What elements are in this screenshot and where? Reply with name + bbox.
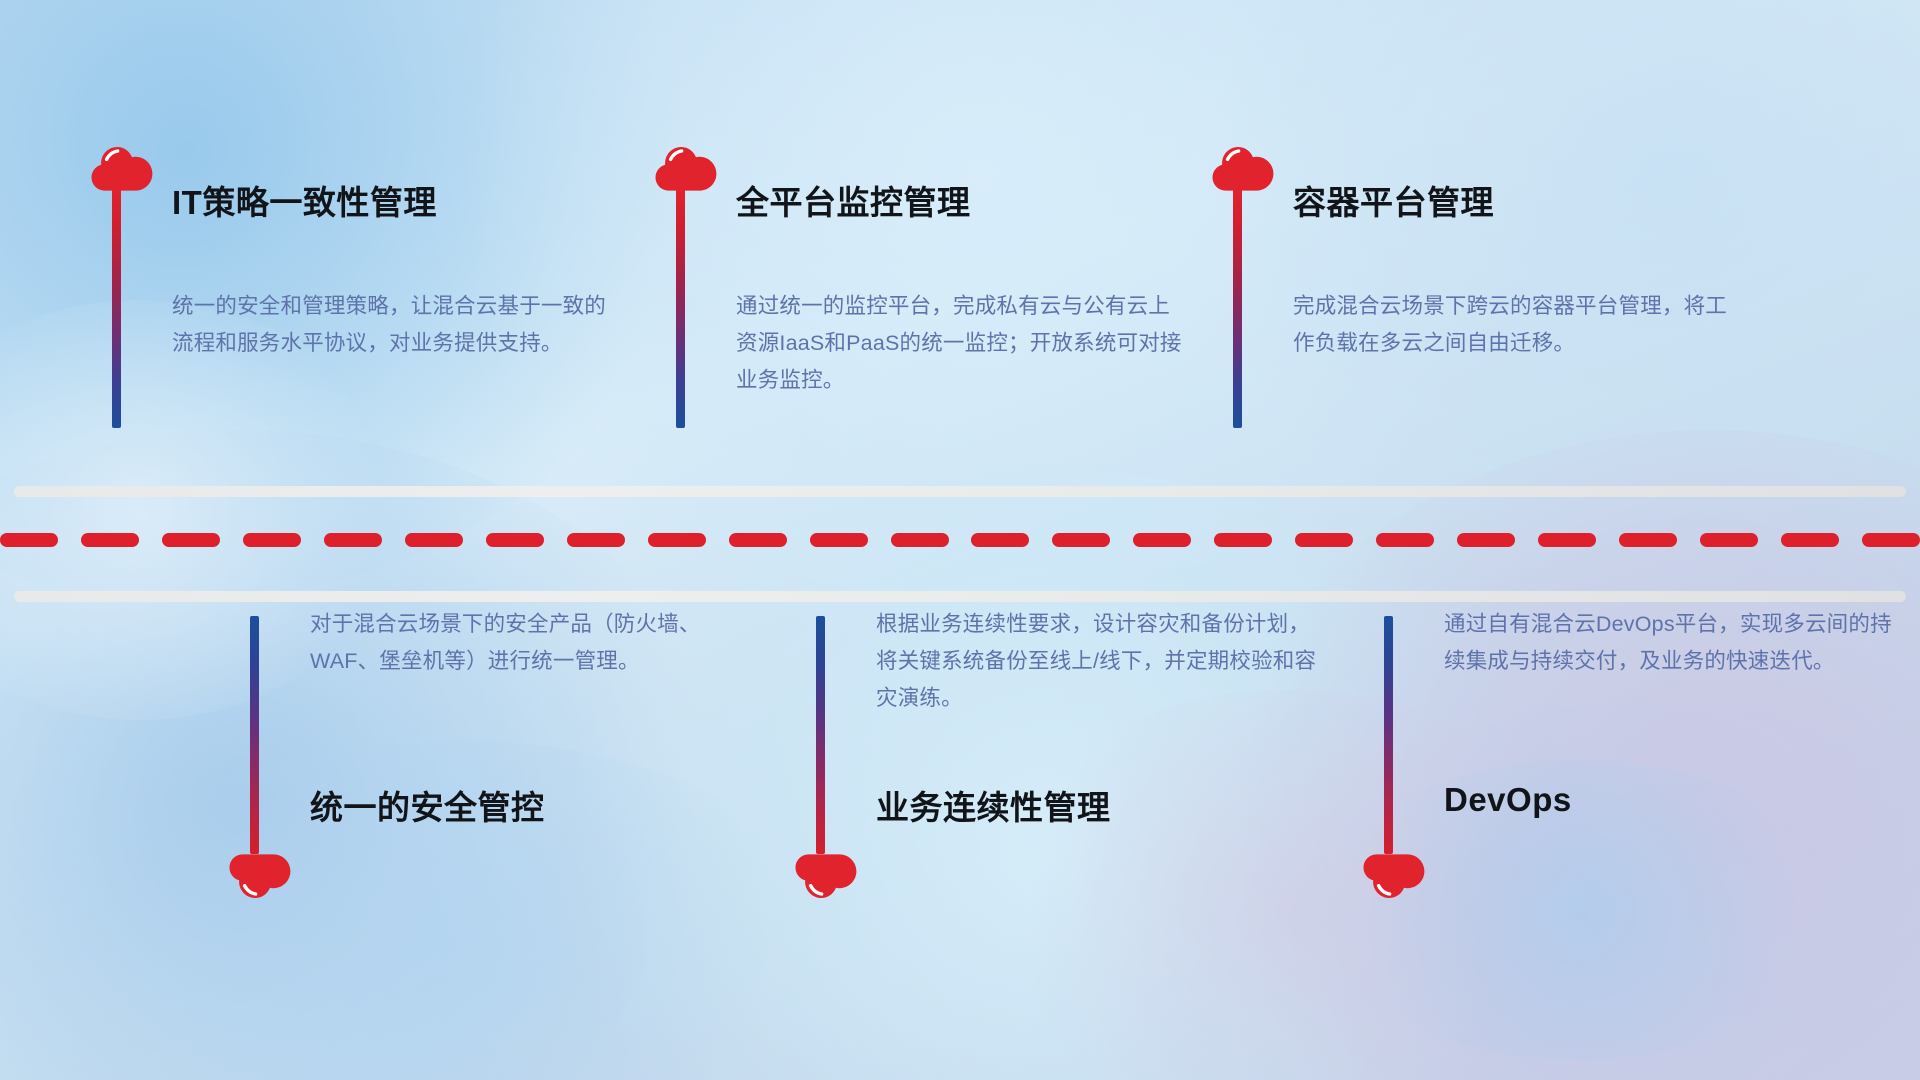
divider-dash — [1052, 533, 1110, 547]
divider-dash — [1457, 533, 1515, 547]
panel-title: IT策略一致性管理 — [172, 176, 437, 224]
divider-dash — [324, 533, 382, 547]
divider-dash — [81, 533, 139, 547]
divider-dash — [405, 533, 463, 547]
background-gradient-blob — [1320, 760, 1840, 1060]
divider-dashed-line — [0, 533, 1920, 547]
panel-body: 对于混合云场景下的安全产品（防火墙、WAF、堡垒机等）进行统一管理。 — [310, 606, 760, 680]
divider-dash — [810, 533, 868, 547]
panel-title: 容器平台管理 — [1293, 176, 1494, 224]
divider-dash — [1538, 533, 1596, 547]
panel-body: 统一的安全和管理策略，让混合云基于一致的流程和服务水平协议，对业务提供支持。 — [172, 288, 622, 362]
cloud-icon — [650, 140, 718, 194]
divider-dash — [1376, 533, 1434, 547]
cloud-icon — [224, 851, 292, 905]
divider-dash — [1862, 533, 1920, 547]
background-gradient-blob — [980, 690, 1600, 1080]
cloud-icon — [1358, 851, 1426, 905]
divider-dash — [486, 533, 544, 547]
panel-title: 统一的安全管控 — [310, 781, 545, 829]
divider-dash — [567, 533, 625, 547]
divider-dash — [1781, 533, 1839, 547]
divider-dash — [243, 533, 301, 547]
infographic-canvas: IT策略一致性管理 统一的安全和管理策略，让混合云基于一致的流程和服务水平协议，… — [0, 0, 1920, 1080]
timeline-stem — [112, 188, 121, 428]
timeline-stem — [1233, 188, 1242, 428]
section-divider — [0, 486, 1920, 606]
divider-dash — [1619, 533, 1677, 547]
divider-dash — [1214, 533, 1272, 547]
divider-dash — [971, 533, 1029, 547]
panel-title: DevOps — [1444, 781, 1572, 819]
divider-rule-top — [14, 486, 1906, 497]
divider-dash — [1133, 533, 1191, 547]
cloud-icon — [790, 851, 858, 905]
panel-title: 全平台监控管理 — [736, 176, 971, 224]
panel-title: 业务连续性管理 — [876, 781, 1111, 829]
divider-dash — [891, 533, 949, 547]
divider-dash — [0, 533, 58, 547]
timeline-stem — [250, 616, 259, 854]
divider-dash — [1700, 533, 1758, 547]
panel-body: 完成混合云场景下跨云的容器平台管理，将工作负载在多云之间自由迁移。 — [1293, 288, 1743, 362]
divider-dash — [1295, 533, 1353, 547]
divider-dash — [729, 533, 787, 547]
timeline-stem — [1384, 616, 1393, 854]
panel-body: 通过统一的监控平台，完成私有云与公有云上资源IaaS和PaaS的统一监控；开放系… — [736, 288, 1186, 399]
cloud-icon — [86, 140, 154, 194]
divider-dash — [162, 533, 220, 547]
divider-rule-bottom — [14, 591, 1906, 602]
cloud-icon — [1207, 140, 1275, 194]
timeline-stem — [676, 188, 685, 428]
panel-body: 根据业务连续性要求，设计容灾和备份计划，将关键系统备份至线上/线下，并定期校验和… — [876, 606, 1326, 717]
panel-body: 通过自有混合云DevOps平台，实现多云间的持续集成与持续交付，及业务的快速迭代… — [1444, 606, 1894, 680]
divider-dash — [648, 533, 706, 547]
timeline-stem — [816, 616, 825, 854]
